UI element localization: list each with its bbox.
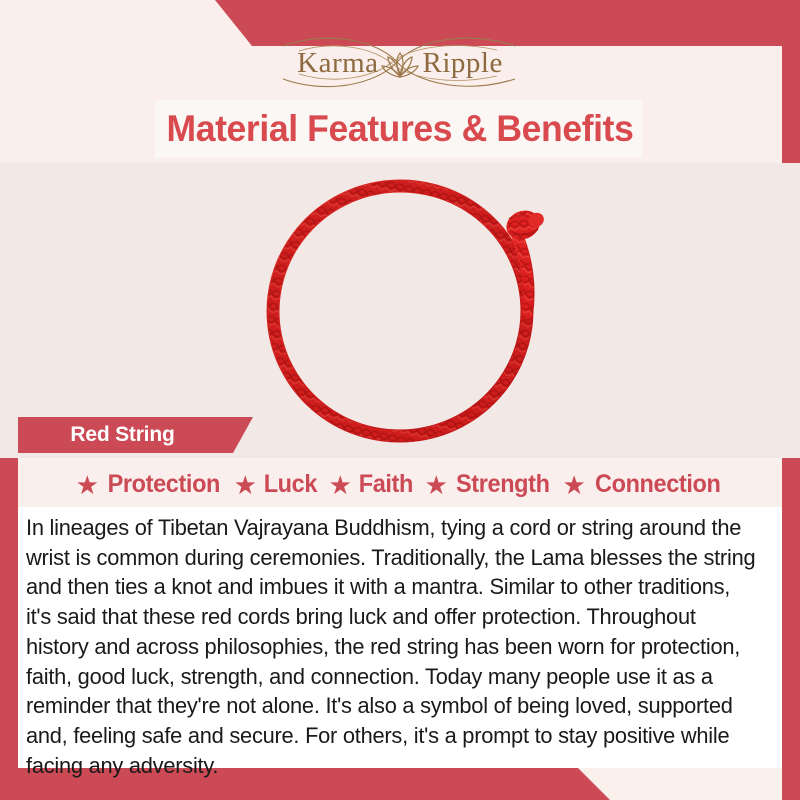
benefit-item-faith: ★ Faith bbox=[329, 470, 415, 499]
star-icon: ★ bbox=[563, 472, 586, 498]
star-icon: ★ bbox=[76, 472, 99, 498]
description-text: In lineages of Tibetan Vajrayana Buddhis… bbox=[26, 513, 755, 780]
star-icon: ★ bbox=[329, 472, 352, 498]
logo-word-karma: Karma bbox=[297, 47, 378, 80]
description-box: In lineages of Tibetan Vajrayana Buddhis… bbox=[18, 507, 782, 768]
benefit-item-luck: ★ Luck bbox=[234, 470, 319, 499]
page-title: Material Features & Benefits bbox=[16, 100, 784, 158]
benefit-item-connection: ★ Connection bbox=[563, 470, 725, 499]
product-name-label: Red String bbox=[18, 417, 233, 453]
star-icon: ★ bbox=[234, 472, 257, 498]
benefit-item-strength: ★ Strength bbox=[425, 470, 553, 499]
red-string-bracelet-image bbox=[0, 163, 800, 458]
star-icon: ★ bbox=[425, 472, 448, 498]
brand-logo: Karma Ripple bbox=[0, 34, 800, 92]
benefit-label: Strength bbox=[456, 470, 550, 499]
benefit-label: Faith bbox=[359, 470, 413, 499]
benefit-item-protection: ★ Protection bbox=[76, 470, 224, 499]
benefit-label: Connection bbox=[595, 470, 720, 499]
benefit-label: Luck bbox=[264, 470, 317, 499]
benefit-label: Protection bbox=[108, 470, 220, 499]
infographic-canvas: Karma Ripple Material Features & Benefit… bbox=[0, 0, 800, 800]
logo-word-ripple: Ripple bbox=[423, 47, 503, 80]
benefits-row: ★ Protection ★ Luck ★ Faith ★ Strength ★… bbox=[18, 462, 782, 507]
